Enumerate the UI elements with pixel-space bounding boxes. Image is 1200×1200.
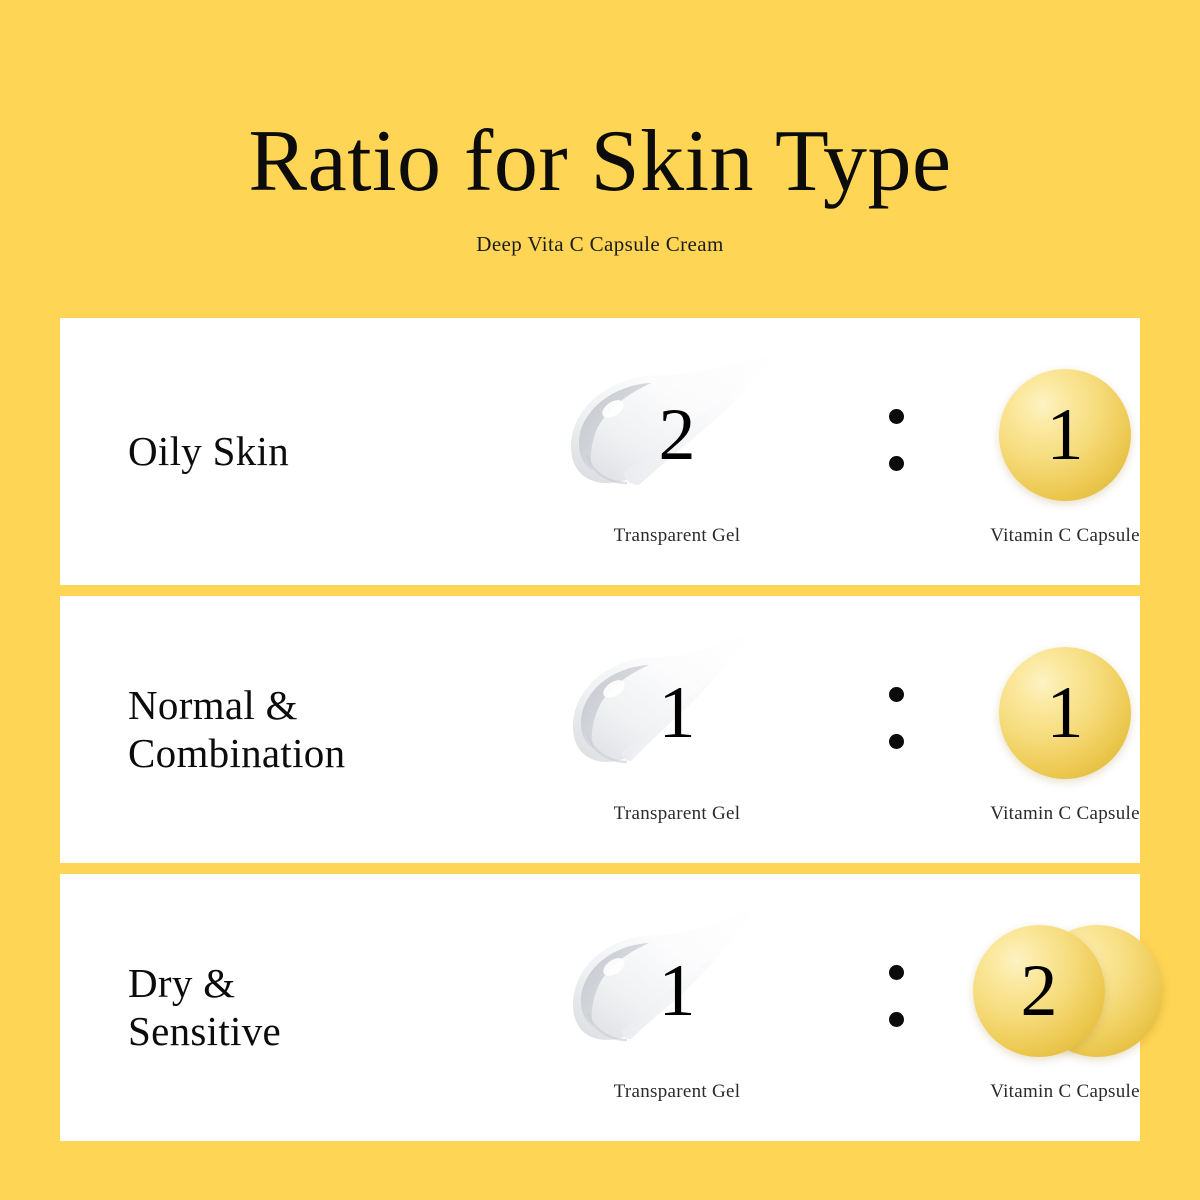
capsule-visual: 1 [945,351,1185,519]
ratio-separator [889,409,904,471]
gel-visual: 1 [557,629,797,797]
capsule-visual: 1 [945,629,1185,797]
page-title: Ratio for Skin Type [0,118,1200,206]
ratio-separator-dot-bottom [889,1012,904,1027]
gel-caption: Transparent Gel [614,1081,741,1103]
ratio-separator-dot-bottom [889,734,904,749]
capsule-visual: 2 [945,907,1185,1075]
skin-type-label: Oily Skin [60,428,460,476]
skin-type-row: Oily Skin [60,318,1140,585]
ingredient-vitamin-c-capsule: 1 Vitamin C Capsule [940,318,1190,585]
capsule-amount: 1 [1047,398,1084,472]
gel-caption: Transparent Gel [614,803,741,825]
ratio-separator [889,965,904,1027]
ingredient-transparent-gel: 1 Transparent Gel [552,596,802,863]
ratio-separator [889,687,904,749]
capsule-amount: 1 [1047,676,1084,750]
skin-type-ratio-infographic: { "header": { "title": "Ratio for Skin T… [0,0,1200,1200]
skin-type-label-line1: Dry & [128,960,460,1008]
capsule-amount: 2 [1021,954,1058,1028]
ratio-separator-dot-top [889,687,904,702]
gel-caption: Transparent Gel [614,525,741,547]
ratio-zone: 2 Transparent Gel 1 Vitamin C Capsule [460,318,1190,585]
ratio-zone: 1 Transparent Gel 2 Vitamin C Capsule [460,874,1190,1141]
gel-visual: 1 [557,907,797,1075]
capsule-caption: Vitamin C Capsule [990,525,1140,547]
gel-amount: 1 [659,954,696,1028]
page-subtitle: Deep Vita C Capsule Cream [0,232,1200,257]
skin-type-label: Normal & Combination [60,682,460,778]
gel-amount: 2 [659,398,696,472]
skin-type-card-list: Oily Skin [60,318,1140,1152]
gel-amount: 1 [659,676,696,750]
header: Ratio for Skin Type Deep Vita C Capsule … [0,0,1200,257]
skin-type-row: Normal & Combination [60,596,1140,863]
skin-type-label-line2: Sensitive [128,1008,460,1056]
capsule-caption: Vitamin C Capsule [990,803,1140,825]
skin-type-row: Dry & Sensitive [60,874,1140,1141]
gel-visual: 2 [557,351,797,519]
ratio-separator-dot-top [889,965,904,980]
skin-type-label-line2: Combination [128,730,460,778]
ingredient-vitamin-c-capsule: 2 Vitamin C Capsule [940,874,1190,1141]
ratio-zone: 1 Transparent Gel 1 Vitamin C Capsule [460,596,1190,863]
ingredient-transparent-gel: 1 Transparent Gel [552,874,802,1141]
skin-type-label-line1: Oily Skin [128,428,460,476]
ratio-separator-dot-top [889,409,904,424]
skin-type-label-line1: Normal & [128,682,460,730]
ingredient-transparent-gel: 2 Transparent Gel [552,318,802,585]
vitamin-c-capsule-icon [945,907,1185,1075]
ratio-separator-dot-bottom [889,456,904,471]
skin-type-label: Dry & Sensitive [60,960,460,1056]
capsule-caption: Vitamin C Capsule [990,1081,1140,1103]
ingredient-vitamin-c-capsule: 1 Vitamin C Capsule [940,596,1190,863]
